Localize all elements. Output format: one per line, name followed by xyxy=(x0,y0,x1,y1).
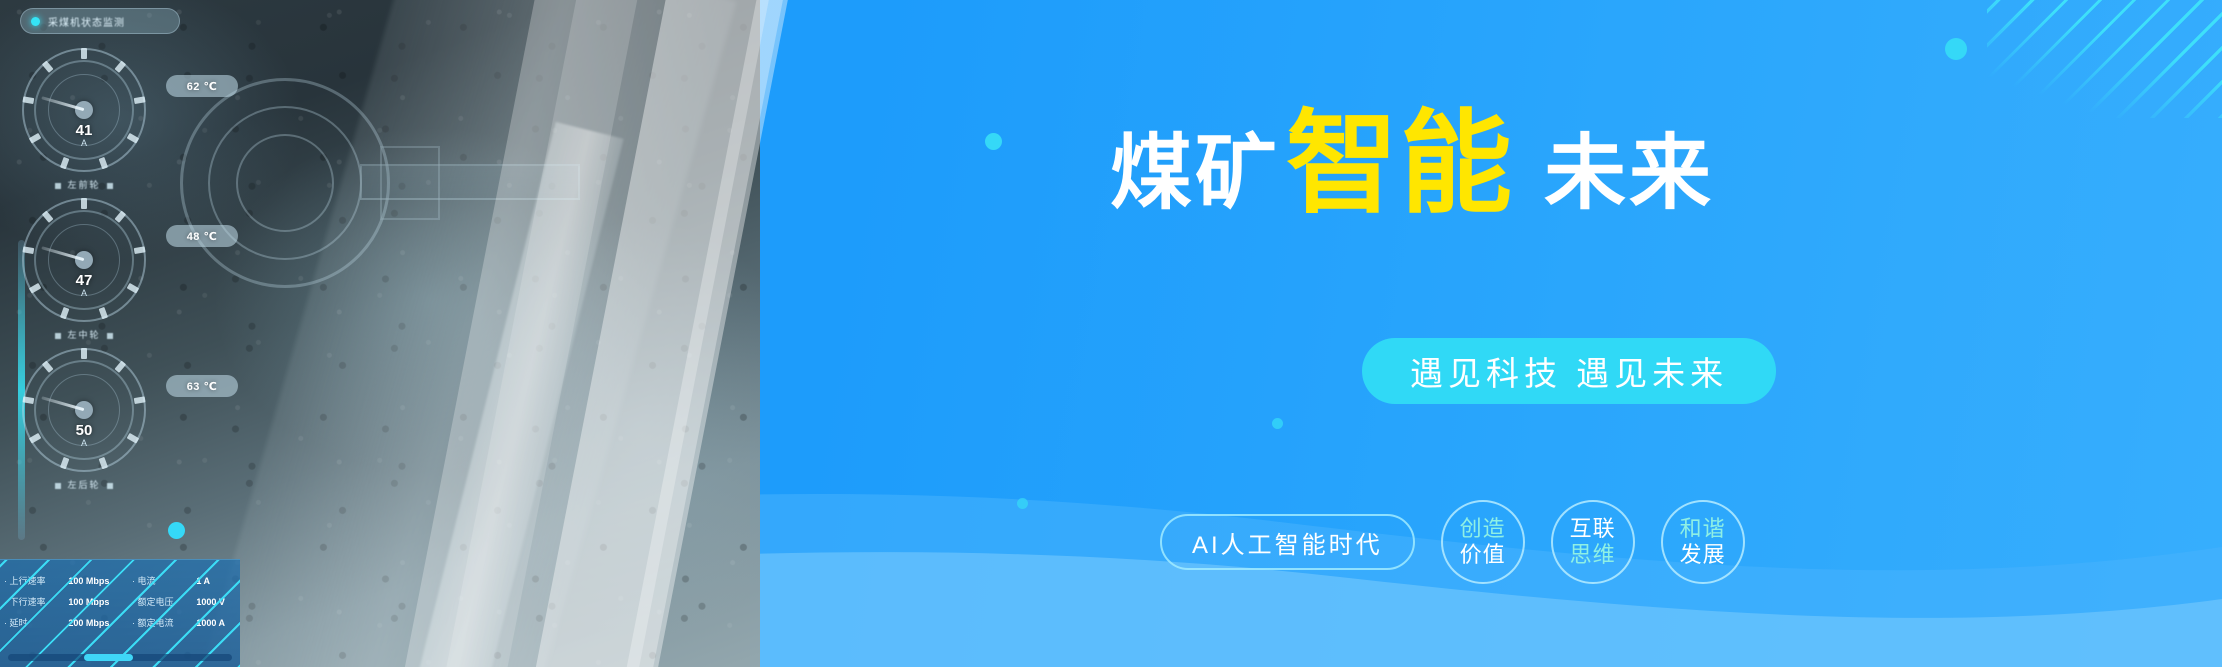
gauge-2-temperature: 48 ℃ xyxy=(166,225,238,247)
gauge-3-sublabel: 左后轮 xyxy=(24,478,144,491)
gauge-2-value: 47 xyxy=(22,272,146,289)
deco-dot xyxy=(1945,38,1967,60)
badge-circle-connected-thinking[interactable]: 互联 思维 xyxy=(1551,500,1635,584)
gauge-3-temperature: 63 ℃ xyxy=(166,375,238,397)
gauge-2-unit: A xyxy=(22,288,146,298)
deco-dot xyxy=(1017,498,1028,509)
badge-line-2: 思维 xyxy=(1570,542,1616,568)
badge-line-1: 互联 xyxy=(1570,516,1616,542)
gauge-2-sublabel: 左中轮 xyxy=(24,328,144,341)
status-dot-icon xyxy=(31,17,40,26)
badge-line-1: 创造 xyxy=(1460,516,1506,542)
subtitle-pill: 遇见科技 遇见未来 xyxy=(1362,338,1776,404)
headline-highlight: 智能 xyxy=(1286,112,1514,215)
gauge-1-value: 41 xyxy=(22,122,146,139)
gauge-1-temperature: 62 ℃ xyxy=(166,75,238,97)
badge-circle-harmonious-development[interactable]: 和谐 发展 xyxy=(1661,500,1745,584)
gauge-3-unit: A xyxy=(22,438,146,448)
gauge-1-sublabel: 左前轮 xyxy=(24,178,144,191)
badge-ai-era[interactable]: AI人工智能时代 xyxy=(1160,514,1415,570)
promo-banner: 采煤机状态监测 41 A 62 ℃ 左前轮 xyxy=(0,0,2222,667)
gauge-3-value: 50 xyxy=(22,422,146,439)
gauge-3: 50 A xyxy=(22,348,146,472)
hatch-overlay xyxy=(0,560,240,667)
badge-line-2: 发展 xyxy=(1680,542,1726,568)
badge-line-2: 价值 xyxy=(1460,542,1506,568)
corner-hatch-decoration xyxy=(1987,0,2222,118)
gauge-1-unit: A xyxy=(22,138,146,148)
deco-dot xyxy=(985,133,1002,150)
deco-dot xyxy=(168,522,185,539)
gauge-2: 47 A xyxy=(22,198,146,322)
hud-panel-title: 采煤机状态监测 xyxy=(20,8,180,34)
badge-line-1: 和谐 xyxy=(1680,516,1726,542)
hud-data-panel: · 上行速率 100 Mbps · 电流 1 A · 下行速率 100 Mbps… xyxy=(0,559,240,667)
hud-panel-title-label: 采煤机状态监测 xyxy=(48,14,125,29)
deco-dot xyxy=(1272,418,1283,429)
headline-part-1: 煤矿 xyxy=(1110,133,1280,215)
headline-part-3: 未来 xyxy=(1544,133,1714,215)
hud-overlay: 采煤机状态监测 41 A 62 ℃ 左前轮 xyxy=(0,0,300,667)
badges-row: AI人工智能时代 创造 价值 互联 思维 和谐 发展 xyxy=(1160,500,1745,584)
gauge-1: 41 A xyxy=(22,48,146,172)
page-title: 煤矿 智能 未来 xyxy=(1110,112,1714,215)
badge-circle-create-value[interactable]: 创造 价值 xyxy=(1441,500,1525,584)
progress-bar xyxy=(8,654,232,661)
